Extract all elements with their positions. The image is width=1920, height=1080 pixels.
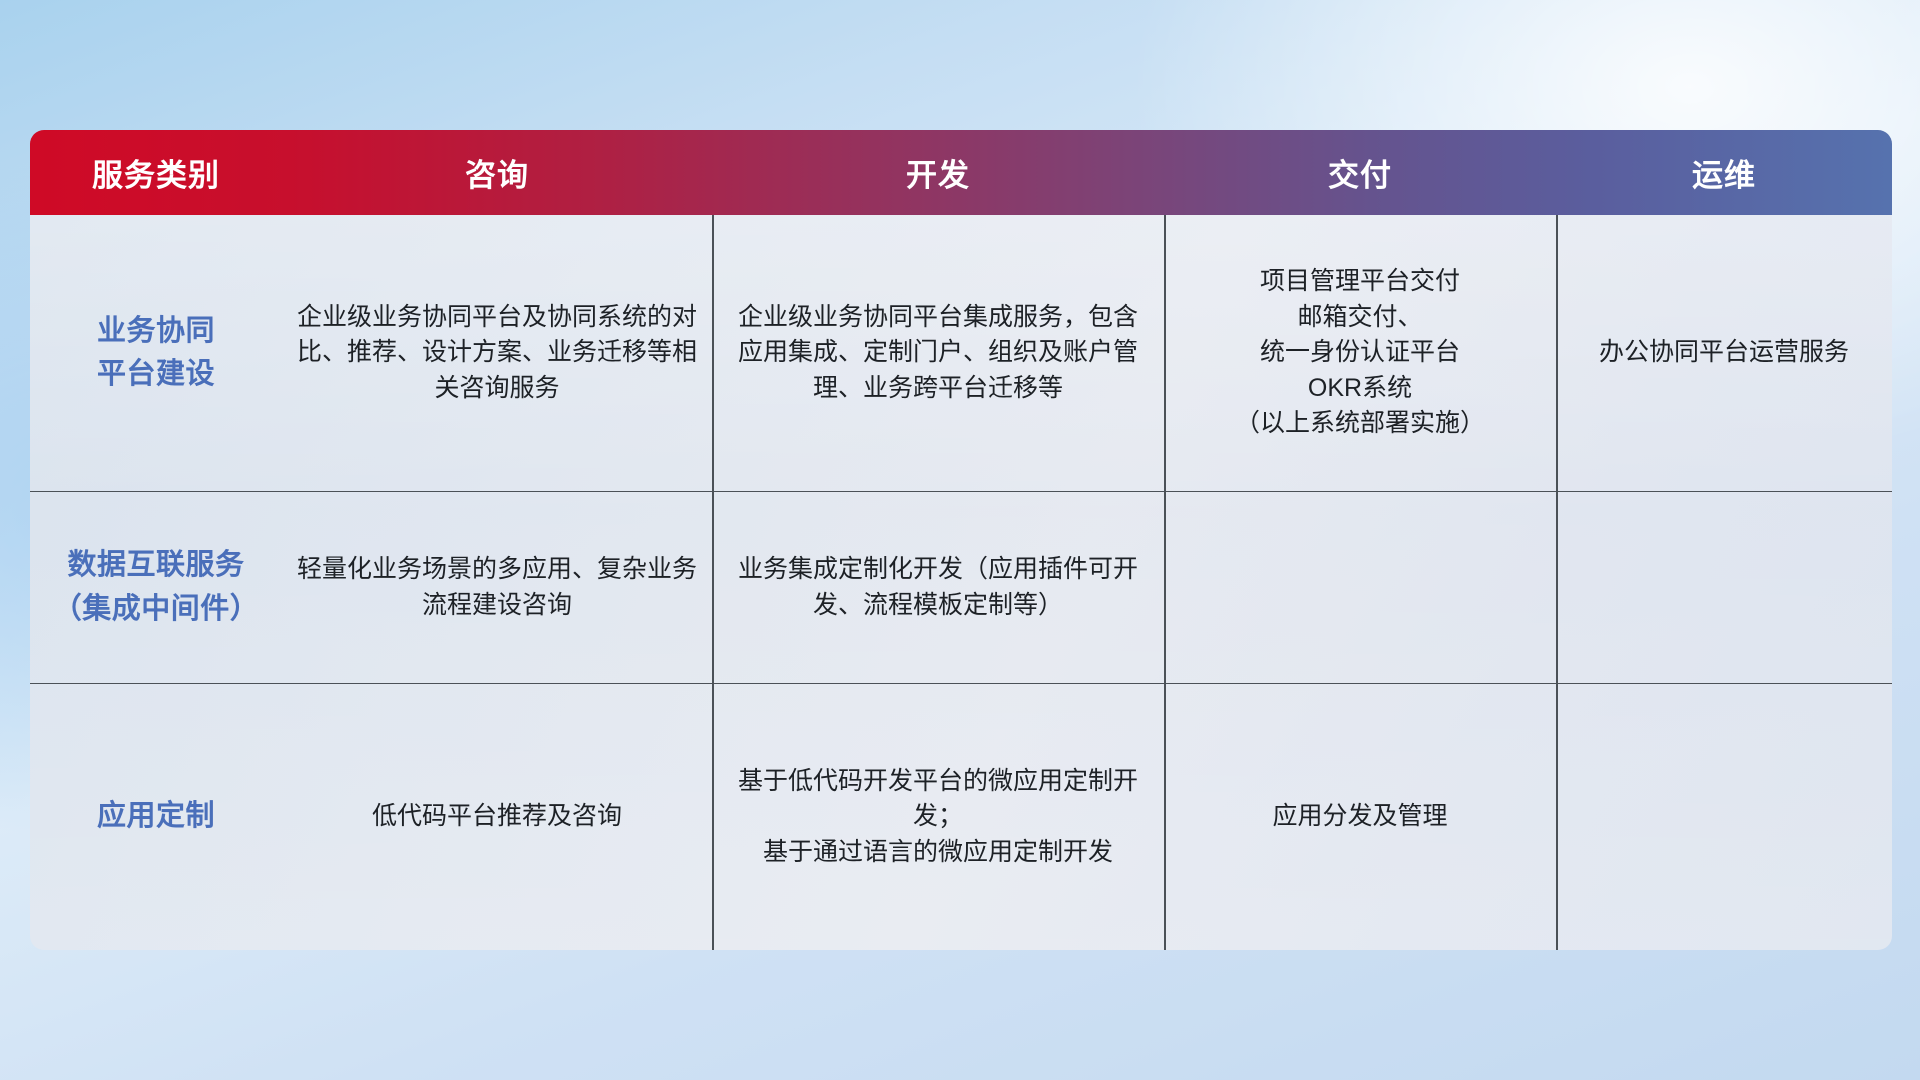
column-header-development: 开发 [712, 130, 1164, 215]
category-line: 数据互联服务 [53, 544, 260, 588]
category-line: 应用定制 [97, 795, 215, 839]
table-row: 数据互联服务 （集成中间件） 轻量化业务场景的多应用、复杂业务流程建设咨询 业务… [30, 491, 1892, 683]
category-line: 业务协同 [97, 310, 215, 354]
category-line: 平台建设 [97, 353, 215, 397]
cell-delivery: 应用分发及管理 [1164, 684, 1556, 950]
cell-consulting: 轻量化业务场景的多应用、复杂业务流程建设咨询 [282, 492, 712, 683]
cell-consulting: 企业级业务协同平台及协同系统的对比、推荐、设计方案、业务迁移等相关咨询服务 [282, 215, 712, 491]
cell-consulting: 低代码平台推荐及咨询 [282, 684, 712, 950]
table-header-row: 服务类别 咨询 开发 交付 运维 [30, 130, 1892, 215]
cell-operations: 办公协同平台运营服务 [1556, 215, 1892, 491]
service-matrix-table: 服务类别 咨询 开发 交付 运维 业务协同 平台建设 企业级业务协同平台及协同系… [30, 130, 1892, 950]
column-header-operations: 运维 [1556, 130, 1892, 215]
cell-line: 基于低代码开发平台的微应用定制开发； [726, 764, 1150, 835]
column-header-consulting: 咨询 [282, 130, 712, 215]
row-category-label: 数据互联服务 （集成中间件） [30, 492, 282, 683]
cell-delivery: 项目管理平台交付 邮箱交付、 统一身份认证平台 OKR系统 （以上系统部署实施） [1164, 215, 1556, 491]
cell-line: OKR系统 [1235, 371, 1485, 407]
table-row: 应用定制 低代码平台推荐及咨询 基于低代码开发平台的微应用定制开发； 基于通过语… [30, 683, 1892, 950]
column-header-category: 服务类别 [30, 130, 282, 215]
cell-line: 邮箱交付、 [1235, 300, 1485, 336]
column-header-delivery: 交付 [1164, 130, 1556, 215]
cell-development: 业务集成定制化开发（应用插件可开发、流程模板定制等） [712, 492, 1164, 683]
cell-line: 统一身份认证平台 [1235, 335, 1485, 371]
cell-delivery [1164, 492, 1556, 683]
cell-line: （以上系统部署实施） [1235, 406, 1485, 442]
cell-development: 企业级业务协同平台集成服务，包含应用集成、定制门户、组织及账户管理、业务跨平台迁… [712, 215, 1164, 491]
cell-operations [1556, 492, 1892, 683]
table-body: 业务协同 平台建设 企业级业务协同平台及协同系统的对比、推荐、设计方案、业务迁移… [30, 215, 1892, 950]
category-line: （集成中间件） [53, 588, 260, 632]
row-category-label: 业务协同 平台建设 [30, 215, 282, 491]
row-category-label: 应用定制 [30, 684, 282, 950]
cell-line: 项目管理平台交付 [1235, 264, 1485, 300]
cell-operations [1556, 684, 1892, 950]
cell-line: 基于通过语言的微应用定制开发 [726, 835, 1150, 871]
cell-development: 基于低代码开发平台的微应用定制开发； 基于通过语言的微应用定制开发 [712, 684, 1164, 950]
table-row: 业务协同 平台建设 企业级业务协同平台及协同系统的对比、推荐、设计方案、业务迁移… [30, 215, 1892, 491]
